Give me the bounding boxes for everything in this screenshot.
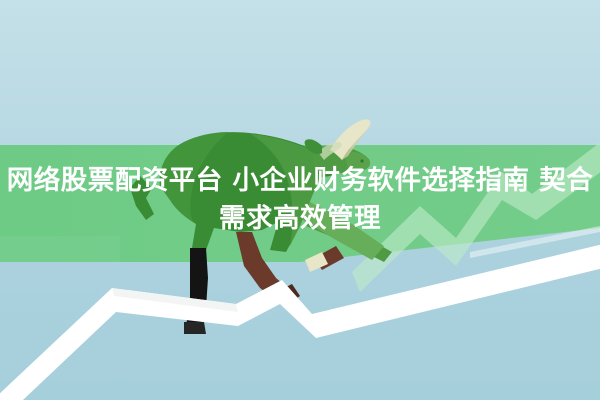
illustration-artboard bbox=[0, 0, 600, 400]
band-highlight-left bbox=[0, 236, 120, 262]
bull-front-hoof-black bbox=[184, 322, 206, 334]
bull-nostril bbox=[360, 159, 363, 162]
banner-image: 网络股票配资平台 小企业财务软件选择指南 契合 需求高效管理 bbox=[0, 0, 600, 400]
sky-background bbox=[0, 0, 600, 145]
